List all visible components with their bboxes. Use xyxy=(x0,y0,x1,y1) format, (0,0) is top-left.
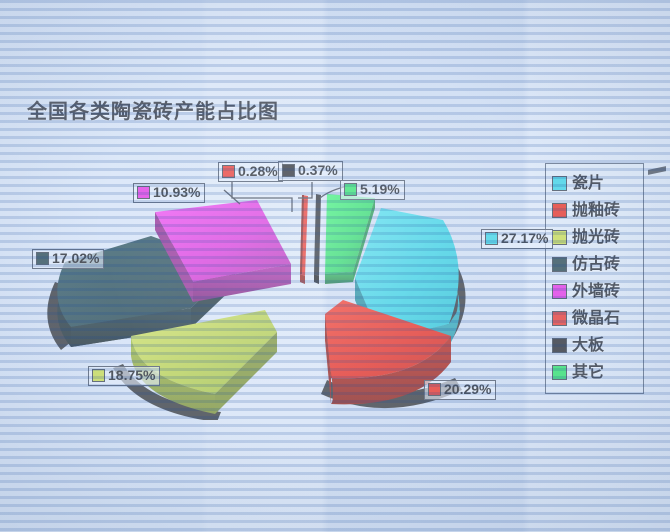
data-label-swatch-waiqiang xyxy=(137,186,150,199)
data-label-paoguang[interactable]: 18.75% xyxy=(88,366,160,386)
data-label-paoyou[interactable]: 20.29% xyxy=(424,380,496,400)
legend-item-qita[interactable]: 其它 xyxy=(552,359,638,386)
legend-swatch-cipian xyxy=(552,176,567,191)
legend-item-weijingshi[interactable]: 微晶石 xyxy=(552,305,638,332)
data-label-qita[interactable]: 5.19% xyxy=(340,180,405,200)
leader-line-magenta xyxy=(222,188,252,210)
data-label-weijingshi[interactable]: 0.28% xyxy=(218,162,283,182)
data-label-swatch-fanggu xyxy=(36,252,49,265)
legend-item-fanggu[interactable]: 仿古砖 xyxy=(552,251,638,278)
data-label-fanggu[interactable]: 17.02% xyxy=(32,249,104,269)
data-label-daban[interactable]: 0.37% xyxy=(278,161,343,181)
legend-swatch-waiqiang xyxy=(552,284,567,299)
legend-swatch-weijingshi xyxy=(552,311,567,326)
data-label-swatch-qita xyxy=(344,183,357,196)
page-title: 全国各类陶瓷砖产能占比图 xyxy=(27,95,279,124)
legend-item-paoguang[interactable]: 抛光砖 xyxy=(552,224,638,251)
legend-item-waiqiang[interactable]: 外墙砖 xyxy=(552,278,638,305)
legend-swatch-paoguang xyxy=(552,230,567,245)
chart-legend: 瓷片 抛釉砖 抛光砖 仿古砖 外墙砖 微晶石 大板 其它 xyxy=(545,163,644,394)
data-label-waiqiang[interactable]: 10.93% xyxy=(133,183,205,203)
data-label-swatch-daban xyxy=(282,164,295,177)
legend-item-cipian[interactable]: 瓷片 xyxy=(552,170,638,197)
legend-item-paoyou[interactable]: 抛釉砖 xyxy=(552,197,638,224)
data-label-cipian[interactable]: 27.17% xyxy=(481,229,553,249)
data-label-swatch-paoyou xyxy=(428,383,441,396)
legend-swatch-qita xyxy=(552,365,567,380)
data-label-swatch-weijingshi xyxy=(222,165,235,178)
data-label-swatch-paoguang xyxy=(92,369,105,382)
legend-swatch-paoyou xyxy=(552,203,567,218)
legend-item-daban[interactable]: 大板 xyxy=(552,332,638,359)
data-label-swatch-cipian xyxy=(485,232,498,245)
legend-swatch-daban xyxy=(552,338,567,353)
legend-swatch-fanggu xyxy=(552,257,567,272)
